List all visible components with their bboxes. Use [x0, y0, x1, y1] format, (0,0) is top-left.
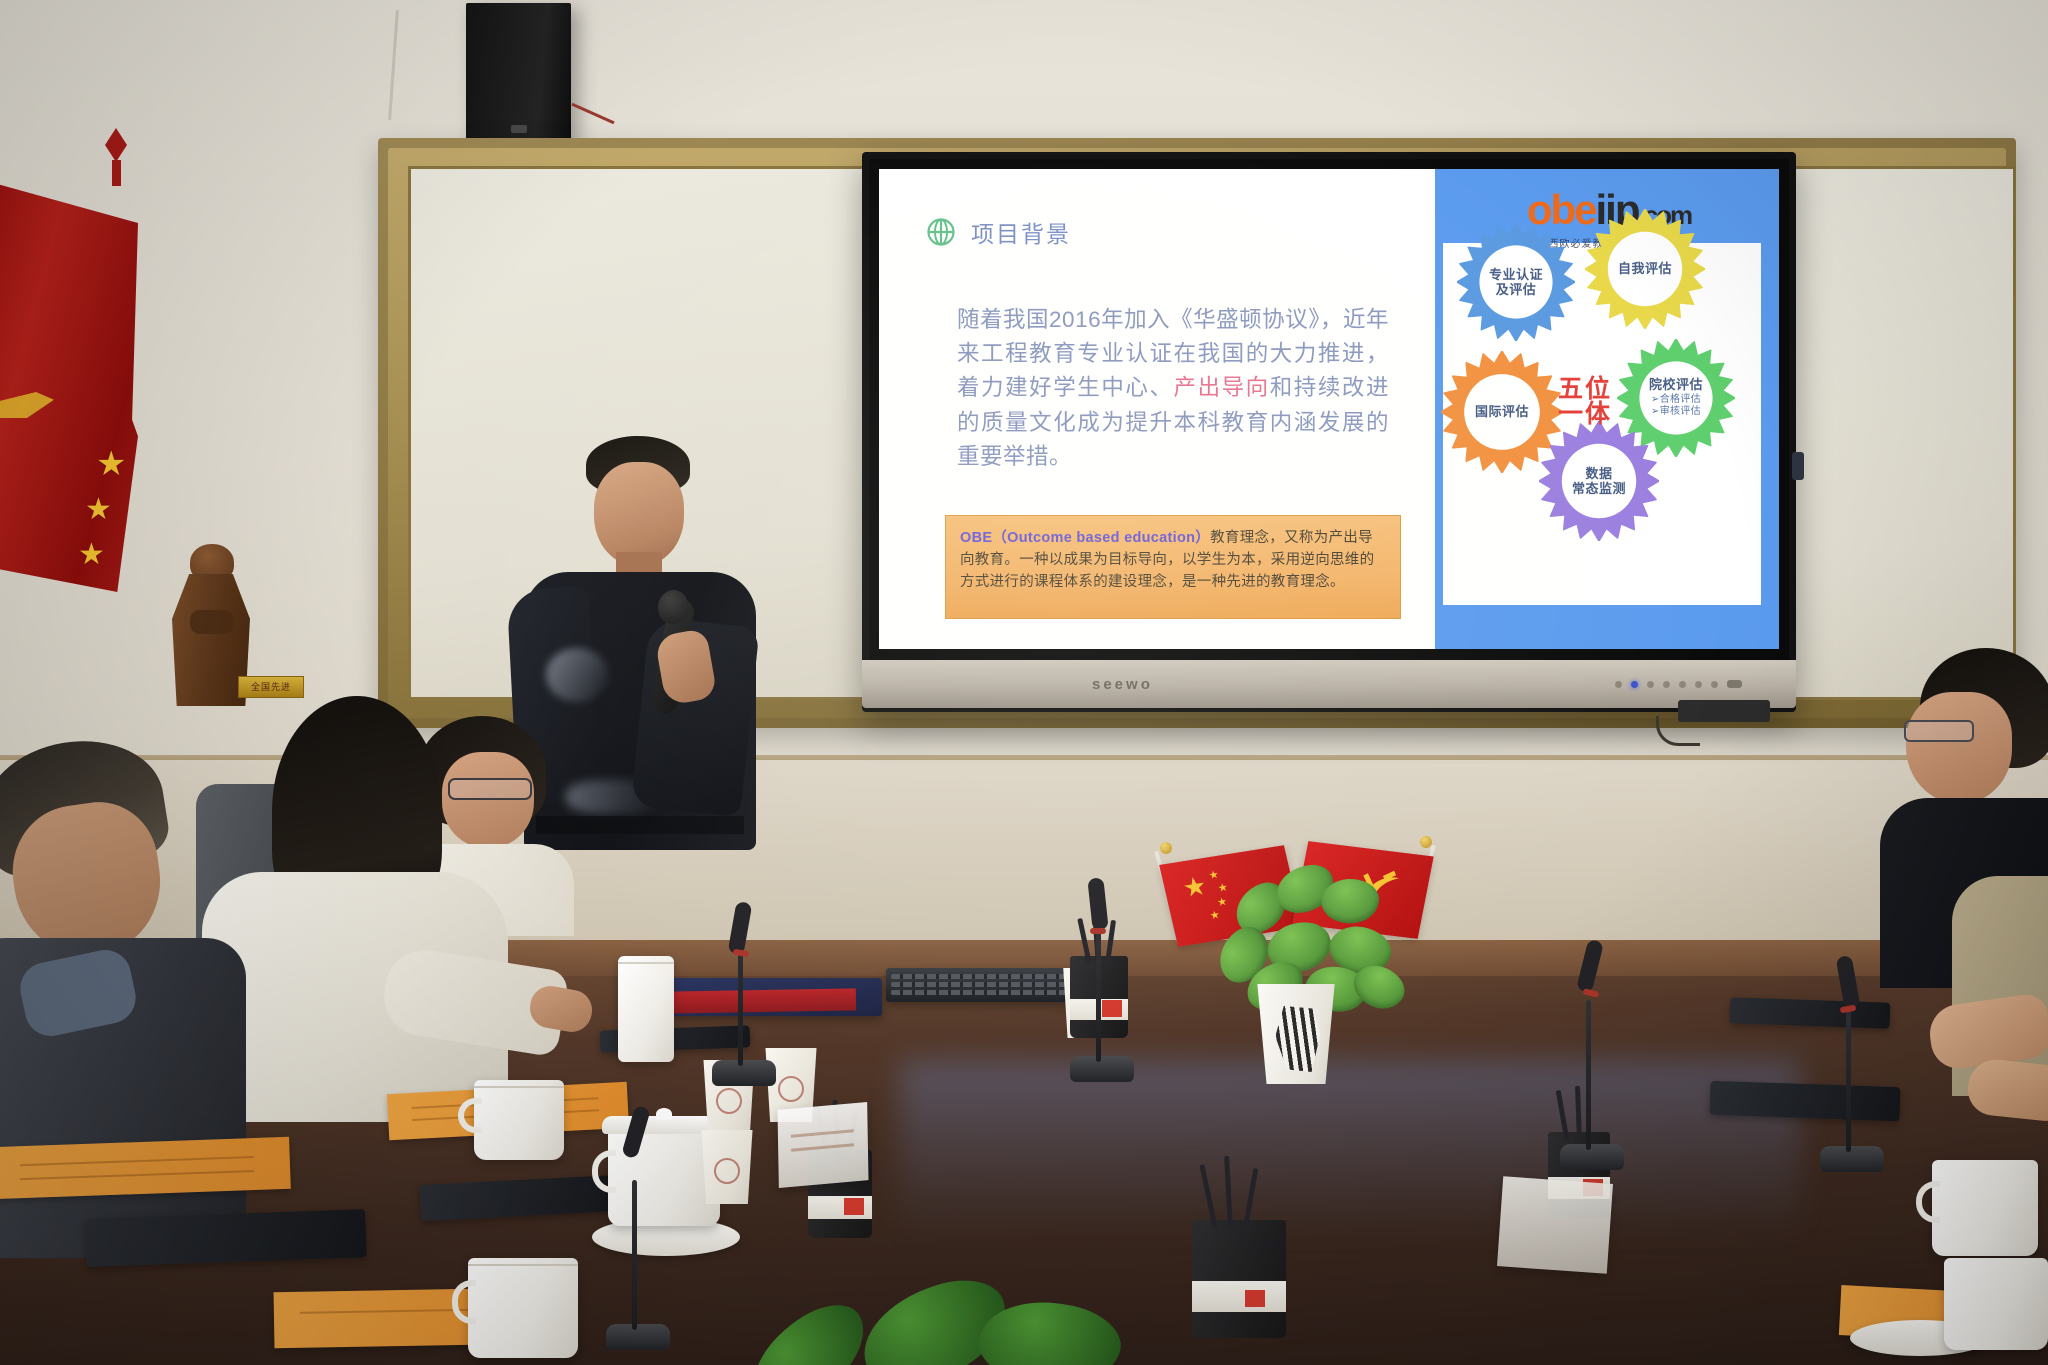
table-reflection-sheen: [900, 1060, 1800, 1240]
desk-plant-with-flags: ★ ★ ★ ★ ★: [1172, 826, 1432, 1086]
tablet-device[interactable]: [85, 1209, 367, 1267]
seewo-brand-label: seewo: [1092, 676, 1153, 693]
pen-holder-label: [1192, 1281, 1286, 1312]
microphone-ring: [733, 949, 750, 958]
ceramic-mug[interactable]: [1932, 1160, 2038, 1256]
gear-label-group: 自我评估: [1618, 261, 1672, 276]
gear-center-label: 五位一体: [1547, 377, 1623, 427]
speaker-driver-icon: [511, 125, 527, 133]
attendee-face: [1906, 692, 2012, 804]
microphone-gooseneck: [1846, 1002, 1851, 1152]
microphone-gooseneck: [632, 1180, 637, 1330]
microphone-base: [1560, 1144, 1624, 1170]
slide-title: 项目背景: [971, 215, 1071, 249]
led-icon-active: [1631, 681, 1638, 688]
thermos-rim: [618, 962, 674, 964]
name-card-line: [791, 1143, 854, 1151]
gear-label: 数据常态监测: [1572, 466, 1626, 497]
led-icon: [1647, 681, 1654, 688]
cup-seal-icon: [714, 1158, 740, 1184]
flag-small-star-icon: ★: [1216, 897, 1228, 909]
gear-5: 数据常态监测: [1539, 421, 1659, 541]
led-icon: [1615, 681, 1622, 688]
body-highlight: 产出导向: [1174, 375, 1270, 400]
red-honor-banner: [0, 182, 138, 592]
microphone-gooseneck: [1096, 912, 1101, 1062]
flag-small-star-icon: ★: [1209, 910, 1221, 922]
banner-pole: [112, 160, 121, 186]
display-side-port[interactable]: [1792, 452, 1804, 480]
presenter-jacket-sheen: [546, 648, 608, 702]
microphone-ring: [1840, 1005, 1857, 1014]
mug-rim: [468, 1264, 578, 1266]
paper-cup[interactable]: [698, 1130, 756, 1204]
microphone-base: [1820, 1146, 1884, 1172]
display-screen[interactable]: 项目背景 随着我国2016年加入《华盛顿协议》，近年来工程教育专业认证在我国的大…: [879, 169, 1779, 649]
gear-label: 院校评估: [1649, 377, 1703, 392]
gear-label-group: 专业认证及评估: [1489, 267, 1543, 298]
gear-sub-label: ➢合格评估➢审核评估: [1651, 394, 1701, 419]
gear-label: 专业认证及评估: [1489, 267, 1543, 298]
acrylic-name-card: [1497, 1176, 1613, 1273]
slide-header: 项目背景: [925, 215, 1071, 249]
cup-seal-icon: [716, 1088, 742, 1114]
wall-speaker: [466, 3, 571, 143]
microphone-ring: [1583, 988, 1600, 998]
desk-microphone[interactable]: [1560, 960, 1624, 1170]
seewo-interactive-display[interactable]: 项目背景 随着我国2016年加入《华盛顿协议》，近年来工程教育专业认证在我国的大…: [862, 152, 1796, 712]
wireless-keyboard[interactable]: [886, 968, 1082, 1002]
mug-lid-knob: [656, 1108, 672, 1120]
statue-nameplate: 全国先进: [238, 676, 304, 698]
ceramic-mug[interactable]: [468, 1258, 578, 1358]
gear-label-group: 数据常态监测: [1572, 466, 1626, 497]
flag-big-star-icon: ★: [1180, 872, 1209, 901]
eyeglasses-icon: [1904, 720, 1974, 742]
cup-seal-icon: [778, 1076, 804, 1102]
statue-arms: [190, 610, 234, 634]
presenter-face: [594, 462, 684, 566]
notepad-line: [20, 1156, 254, 1166]
thermos-cup[interactable]: [618, 956, 674, 1062]
pen-holder[interactable]: [1192, 1220, 1286, 1338]
led-icon: [1711, 681, 1718, 688]
keyboard-row: [891, 982, 1077, 987]
microphone-capsule-icon: [728, 901, 753, 955]
name-card-line: [790, 1129, 853, 1137]
zebra-print-flower-pot: [1250, 984, 1342, 1084]
gear-label-group: 国际评估: [1475, 404, 1529, 419]
ir-sensor-icon: [1727, 680, 1742, 688]
obe-definition-box: OBE（Outcome based education）教育理念，又称为产出导向…: [945, 515, 1401, 619]
deli-brand-icon: [844, 1198, 864, 1215]
acrylic-name-card: [777, 1102, 868, 1188]
ceramic-mug[interactable]: [1944, 1258, 2048, 1350]
gear-label-group: 院校评估➢合格评估➢审核评估: [1649, 377, 1703, 418]
desk-microphone[interactable]: [712, 910, 776, 1086]
keyboard-row: [891, 974, 1077, 979]
conference-room-scene: ★ ★ ★ 全国先进: [0, 0, 2048, 1365]
banner-star-icon: ★: [96, 447, 126, 481]
desk-microphone[interactable]: [606, 1130, 670, 1350]
microphone-base: [712, 1060, 776, 1086]
display-indicator-leds: [1615, 680, 1742, 688]
slide-body-text: 随着我国2016年加入《华盛顿协议》，近年来工程教育专业认证在我国的大力推进，着…: [957, 303, 1389, 474]
banner-star-icon: ★: [78, 540, 105, 570]
microphone-base: [1070, 1056, 1134, 1082]
obe-term-label: OBE（Outcome based education）: [960, 530, 1210, 546]
notepad-line: [20, 1170, 254, 1180]
microphone-ring: [1090, 928, 1106, 934]
desk-microphone[interactable]: [1820, 972, 1884, 1172]
led-icon: [1679, 681, 1686, 688]
presentation-slide: 项目背景 随着我国2016年加入《华盛顿协议》，近年来工程教育专业认证在我国的大…: [879, 169, 1779, 649]
project-background-icon: [925, 216, 957, 248]
keyboard-row: [891, 990, 1077, 995]
deli-brand-icon: [1245, 1290, 1265, 1307]
whiteboard-panel-right: [1790, 166, 2016, 700]
statue-nameplate-label: 全国先进: [239, 677, 303, 697]
led-icon: [1695, 681, 1702, 688]
orange-notepad[interactable]: [0, 1137, 291, 1199]
flag-small-star-icon: ★: [1217, 883, 1229, 895]
banner-star-icon: ★: [85, 495, 112, 525]
flag-small-star-icon: ★: [1208, 870, 1220, 882]
flag-finial-icon: [1420, 836, 1432, 848]
gear-label: 自我评估: [1618, 261, 1672, 276]
microphone-gooseneck: [1586, 1000, 1591, 1150]
obe-box-content: OBE（Outcome based education）教育理念，又称为产出导向…: [960, 527, 1386, 593]
zebra-graphic-icon: [1272, 1006, 1325, 1072]
mug-rim: [474, 1086, 564, 1088]
flag-finial-icon: [1160, 842, 1172, 854]
presenter-belt: [536, 816, 744, 834]
microphone-base: [606, 1324, 670, 1350]
desk-microphone[interactable]: [1070, 892, 1134, 1082]
gear-2: 自我评估: [1585, 209, 1705, 329]
document-folder[interactable]: [672, 978, 882, 1016]
slide-left-column: 项目背景 随着我国2016年加入《华盛顿协议》，近年来工程教育专业认证在我国的大…: [879, 169, 1435, 649]
led-icon: [1663, 681, 1670, 688]
ceramic-mug[interactable]: [474, 1080, 564, 1160]
gear-label: 国际评估: [1475, 404, 1529, 419]
gear-1: 专业认证及评估: [1457, 223, 1575, 341]
display-bottom-bar: seewo: [862, 660, 1796, 708]
slide-right-column: obeiip.com 陕西欧必爱教育咨询有限公司 专业认证及评估自我评估国际评估…: [1435, 169, 1779, 649]
